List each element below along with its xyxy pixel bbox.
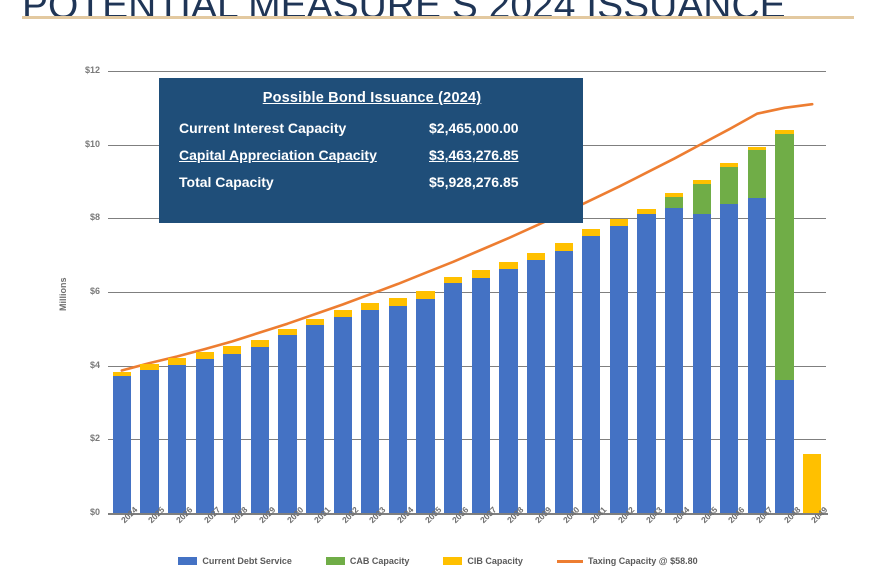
legend-swatch-icon xyxy=(326,557,345,565)
info-row-value: $5,928,276.85 xyxy=(429,174,565,190)
bar-segment xyxy=(637,214,655,513)
legend-item[interactable]: CAB Capacity xyxy=(326,556,410,566)
bar-column[interactable] xyxy=(775,71,793,513)
bar-column[interactable] xyxy=(113,71,131,513)
bar-segment xyxy=(334,317,352,513)
info-row-label: Current Interest Capacity xyxy=(179,120,429,136)
y-axis-tick-label: $12 xyxy=(66,65,100,75)
legend-label: Current Debt Service xyxy=(202,556,292,566)
y-axis-tick-label: $6 xyxy=(66,286,100,296)
bar-column[interactable] xyxy=(748,71,766,513)
bar-segment xyxy=(720,163,738,167)
info-panel-title: Possible Bond Issuance (2024) xyxy=(179,86,565,115)
bar-segment xyxy=(223,346,241,353)
bar-segment xyxy=(361,310,379,513)
bar-segment xyxy=(555,243,573,251)
bar-segment xyxy=(693,214,711,513)
bar-segment xyxy=(389,306,407,513)
bar-segment xyxy=(720,204,738,513)
bar-segment xyxy=(444,283,462,513)
info-panel-row: Capital Appreciation Capacity$3,463,276.… xyxy=(179,142,565,169)
bar-column[interactable] xyxy=(693,71,711,513)
bar-segment xyxy=(472,278,490,513)
bar-segment xyxy=(527,253,545,260)
bar-segment xyxy=(251,340,269,347)
title-block: POTENTIAL MEASURE S 2024 ISSUANCE xyxy=(0,0,876,36)
bar-segment xyxy=(527,260,545,513)
bar-segment xyxy=(306,319,324,326)
info-row-label: Total Capacity xyxy=(179,174,429,190)
title-divider xyxy=(22,16,854,19)
bar-column[interactable] xyxy=(720,71,738,513)
bar-segment xyxy=(334,310,352,317)
bar-segment xyxy=(389,298,407,306)
bar-segment xyxy=(748,198,766,513)
slide-canvas: POTENTIAL MEASURE S 2024 ISSUANCE Millio… xyxy=(0,0,876,584)
bar-segment xyxy=(416,291,434,299)
bar-segment xyxy=(610,226,628,513)
bar-segment xyxy=(693,184,711,214)
info-row-value: $2,465,000.00 xyxy=(429,120,565,136)
y-axis-tick-label: $2 xyxy=(66,433,100,443)
bar-segment xyxy=(113,372,131,376)
bar-segment xyxy=(223,354,241,513)
legend-item[interactable]: Taxing Capacity @ $58.80 xyxy=(557,556,698,566)
legend-swatch-icon xyxy=(443,557,462,565)
page-title: POTENTIAL MEASURE S 2024 ISSUANCE xyxy=(22,0,862,28)
bar-column[interactable] xyxy=(610,71,628,513)
chart-legend: Current Debt ServiceCAB CapacityCIB Capa… xyxy=(0,556,876,566)
bar-column[interactable] xyxy=(140,71,158,513)
info-panel-rows: Current Interest Capacity$2,465,000.00Ca… xyxy=(179,115,565,196)
bar-segment xyxy=(113,376,131,513)
legend-label: Taxing Capacity @ $58.80 xyxy=(588,556,698,566)
legend-item[interactable]: Current Debt Service xyxy=(178,556,292,566)
y-axis-tick-label: $8 xyxy=(66,212,100,222)
bar-segment xyxy=(582,236,600,513)
bar-segment xyxy=(610,219,628,226)
bar-segment xyxy=(416,299,434,513)
bar-segment xyxy=(582,229,600,236)
bar-column[interactable] xyxy=(665,71,683,513)
bar-segment xyxy=(665,208,683,513)
legend-label: CAB Capacity xyxy=(350,556,410,566)
bar-segment xyxy=(775,130,793,134)
bar-segment xyxy=(499,262,517,269)
bar-segment xyxy=(665,197,683,208)
bar-segment xyxy=(306,325,324,513)
bar-segment xyxy=(499,269,517,513)
bar-segment xyxy=(278,329,296,336)
info-panel-row: Total Capacity$5,928,276.85 xyxy=(179,169,565,196)
bar-segment xyxy=(251,347,269,513)
bar-segment xyxy=(720,167,738,204)
bar-segment xyxy=(803,454,821,513)
legend-label: CIB Capacity xyxy=(467,556,523,566)
bar-segment xyxy=(748,147,766,150)
legend-swatch-icon xyxy=(178,557,197,565)
bar-segment xyxy=(472,270,490,278)
legend-line-icon xyxy=(557,560,583,563)
bar-segment xyxy=(140,370,158,513)
bar-segment xyxy=(278,335,296,513)
bar-column[interactable] xyxy=(637,71,655,513)
bar-segment xyxy=(140,364,158,370)
bar-segment xyxy=(693,180,711,184)
info-row-value: $3,463,276.85 xyxy=(429,147,565,163)
bar-segment xyxy=(168,358,186,365)
bar-segment xyxy=(637,209,655,214)
y-axis-tick-label: $10 xyxy=(66,139,100,149)
bar-segment xyxy=(665,193,683,197)
bar-column[interactable] xyxy=(582,71,600,513)
bar-segment xyxy=(775,134,793,380)
bar-segment xyxy=(444,277,462,283)
legend-item[interactable]: CIB Capacity xyxy=(443,556,523,566)
y-axis-tick-label: $0 xyxy=(66,507,100,517)
bar-segment xyxy=(748,150,766,198)
y-axis-tick-label: $4 xyxy=(66,360,100,370)
bar-segment xyxy=(555,251,573,513)
bar-segment xyxy=(196,352,214,359)
bar-column[interactable] xyxy=(803,71,821,513)
info-panel-row: Current Interest Capacity$2,465,000.00 xyxy=(179,115,565,142)
bar-segment xyxy=(361,303,379,310)
bar-segment xyxy=(775,380,793,513)
info-row-label: Capital Appreciation Capacity xyxy=(179,147,429,163)
bar-segment xyxy=(168,365,186,513)
bar-segment xyxy=(196,359,214,513)
possible-bond-issuance-panel: Possible Bond Issuance (2024) Current In… xyxy=(159,78,583,223)
